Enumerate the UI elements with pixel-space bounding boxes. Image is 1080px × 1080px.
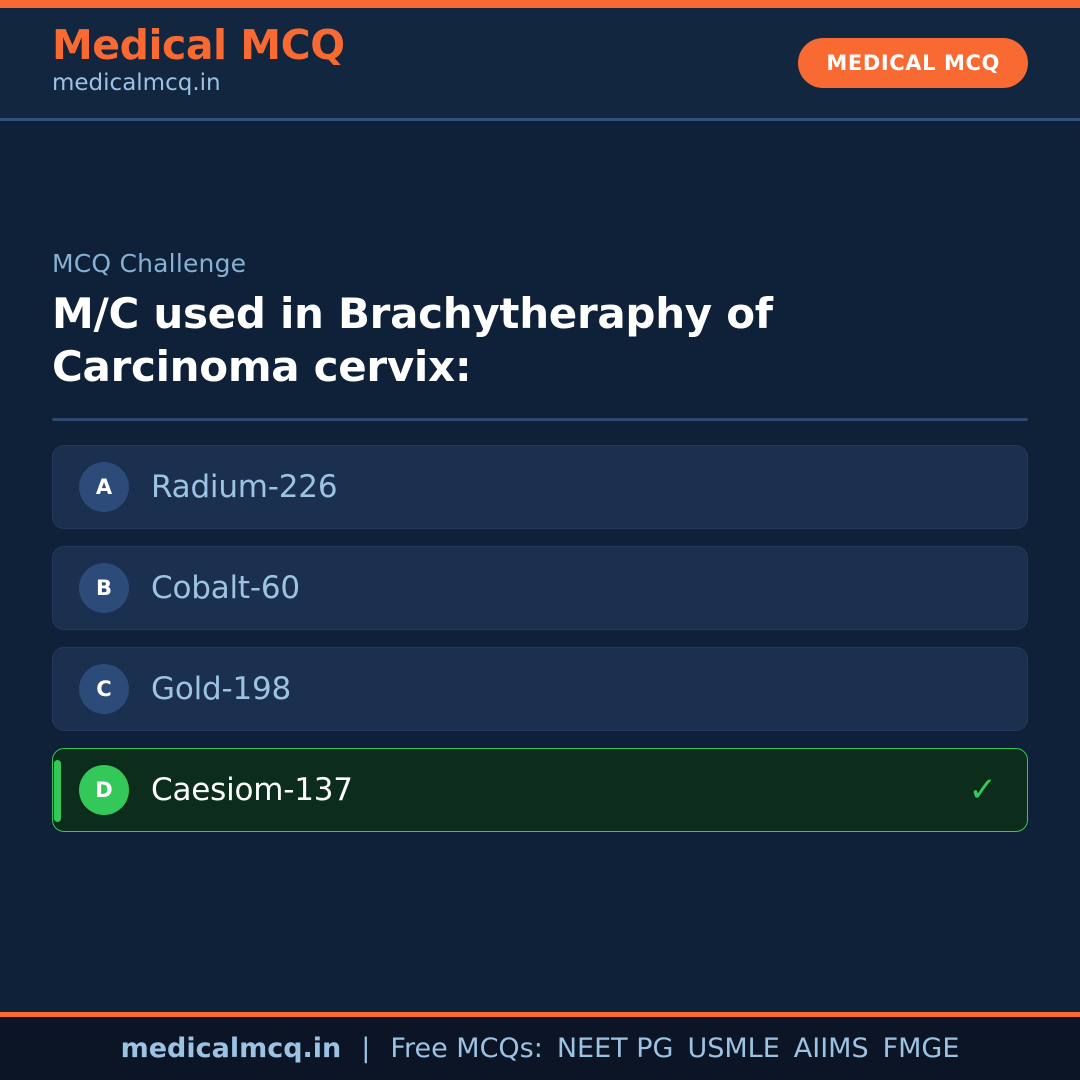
footer-exam-usmle: USMLE (687, 1033, 779, 1064)
option-d-correct[interactable]: D Caesiom-137 ✓ (52, 748, 1028, 832)
footer-exam-fmge: FMGE (883, 1033, 960, 1064)
option-letter-badge: B (79, 563, 129, 613)
question-block: MCQ Challenge M/C used in Brachytheraphy… (52, 249, 1028, 832)
option-text: Cobalt-60 (151, 570, 300, 606)
option-b[interactable]: B Cobalt-60 (52, 546, 1028, 630)
option-letter-badge: D (79, 765, 129, 815)
footer-separator: | (361, 1033, 370, 1064)
mcq-card: Medical MCQ medicalmcq.in MEDICAL MCQ MC… (0, 0, 1080, 1080)
footer-exam-neet-pg: NEET PG (557, 1033, 674, 1064)
options-list: A Radium-226 B Cobalt-60 C Gold-198 D (52, 445, 1028, 832)
brand-subtitle: medicalmcq.in (52, 69, 345, 99)
header-badge: MEDICAL MCQ (798, 38, 1028, 88)
footer-site: medicalmcq.in (121, 1033, 342, 1064)
question-text: M/C used in Brachytheraphy of Carcinoma … (52, 288, 952, 394)
option-c[interactable]: C Gold-198 (52, 647, 1028, 731)
option-text: Caesiom-137 (151, 772, 353, 808)
option-text: Gold-198 (151, 671, 291, 707)
top-accent-bar (0, 0, 1080, 8)
option-a[interactable]: A Radium-226 (52, 445, 1028, 529)
footer-label: Free MCQs: (390, 1033, 542, 1064)
eyebrow-label: MCQ Challenge (52, 249, 1028, 278)
option-letter-badge: A (79, 462, 129, 512)
question-divider (52, 418, 1028, 421)
correct-accent-bar (54, 760, 61, 822)
option-letter-badge: C (79, 664, 129, 714)
footer-inner: medicalmcq.in | Free MCQs: NEET PG USMLE… (121, 1033, 960, 1064)
main-content: MCQ Challenge M/C used in Brachytheraphy… (0, 121, 1080, 1012)
brand-block: Medical MCQ medicalmcq.in (52, 24, 345, 99)
option-text: Radium-226 (151, 469, 337, 505)
brand-title: Medical MCQ (52, 24, 345, 67)
checkmark-icon: ✓ (969, 773, 998, 807)
footer: medicalmcq.in | Free MCQs: NEET PG USMLE… (0, 1012, 1080, 1080)
footer-exam-aiims: AIIMS (794, 1033, 869, 1064)
header: Medical MCQ medicalmcq.in MEDICAL MCQ (0, 8, 1080, 121)
